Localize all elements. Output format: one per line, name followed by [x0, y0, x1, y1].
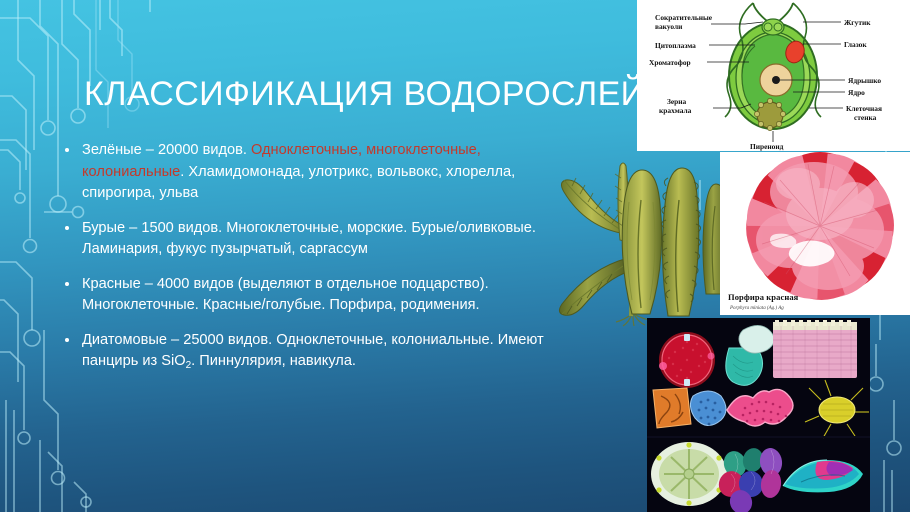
cell-label-starch-grains-2: крахмала — [659, 106, 692, 115]
list-item-red-algae: Красные – 4000 видов (выделяют в отдельн… — [58, 274, 558, 317]
list-item-diatoms: Диатомовые – 25000 видов. Одноклеточные,… — [58, 330, 558, 374]
laminaria-brown-algae-illustration — [528, 148, 728, 328]
cell-label-nucleolus: Ядрышко — [848, 76, 881, 85]
cell-label-pyrenoid: Пиреноид — [750, 142, 784, 151]
chlamydomonas-cell-diagram: Сократительные вакуоли Цитоплазма Хромат… — [637, 0, 910, 151]
cell-label-flagellum: Жгутик — [844, 18, 871, 27]
porphyra-latin-name: Porphyra miniata (Ag.) Ag — [730, 306, 784, 311]
bullet-green-lead: Зелёные – 20000 видов. — [82, 142, 251, 158]
porphyra-caption: Порфира красная — [728, 292, 798, 302]
bullet-diatoms-subscript: 2 — [186, 360, 192, 371]
cell-label-cytoplasm: Цитоплазма — [655, 41, 696, 50]
bullet-red-text: Красные – 4000 видов (выделяют в отдельн… — [82, 276, 489, 314]
slide-root: КЛАССИФИКАЦИЯ ВОДОРОСЛЕЙ Зелёные – 20000… — [0, 0, 910, 512]
bullet-list: Зелёные – 20000 видов. Одноклеточные, мн… — [58, 140, 558, 387]
cell-label-contractile-vacuoles-2: вакуоли — [655, 22, 683, 31]
cell-label-eyespot: Глазок — [844, 40, 867, 49]
cell-label-chromatophore: Хроматофор — [649, 58, 691, 67]
bullet-diatoms-post: . Пиннулярия, навикула. — [191, 353, 356, 369]
cell-label-contractile-vacuoles-1: Сократительные — [655, 13, 713, 22]
cell-label-nucleus: Ядро — [848, 88, 865, 97]
porphyra-image — [720, 152, 910, 315]
porphyra-red-algae-photo: Порфира красная Porphyra miniata (Ag.) A… — [720, 152, 910, 315]
list-item-green-algae: Зелёные – 20000 видов. Одноклеточные, мн… — [58, 140, 558, 205]
cell-label-cell-wall-1: Клеточная — [846, 104, 882, 113]
list-item-brown-algae: Бурые – 1500 видов. Многоклеточные, морс… — [58, 218, 558, 261]
page-title: КЛАССИФИКАЦИЯ ВОДОРОСЛЕЙ — [84, 74, 624, 114]
diatom-microscopy-collage — [647, 318, 870, 512]
cell-label-cell-wall-2: стенка — [854, 113, 877, 122]
bullet-brown-text: Бурые – 1500 видов. Многоклеточные, морс… — [82, 220, 536, 258]
cell-label-starch-grains-1: Зерна — [667, 97, 687, 106]
